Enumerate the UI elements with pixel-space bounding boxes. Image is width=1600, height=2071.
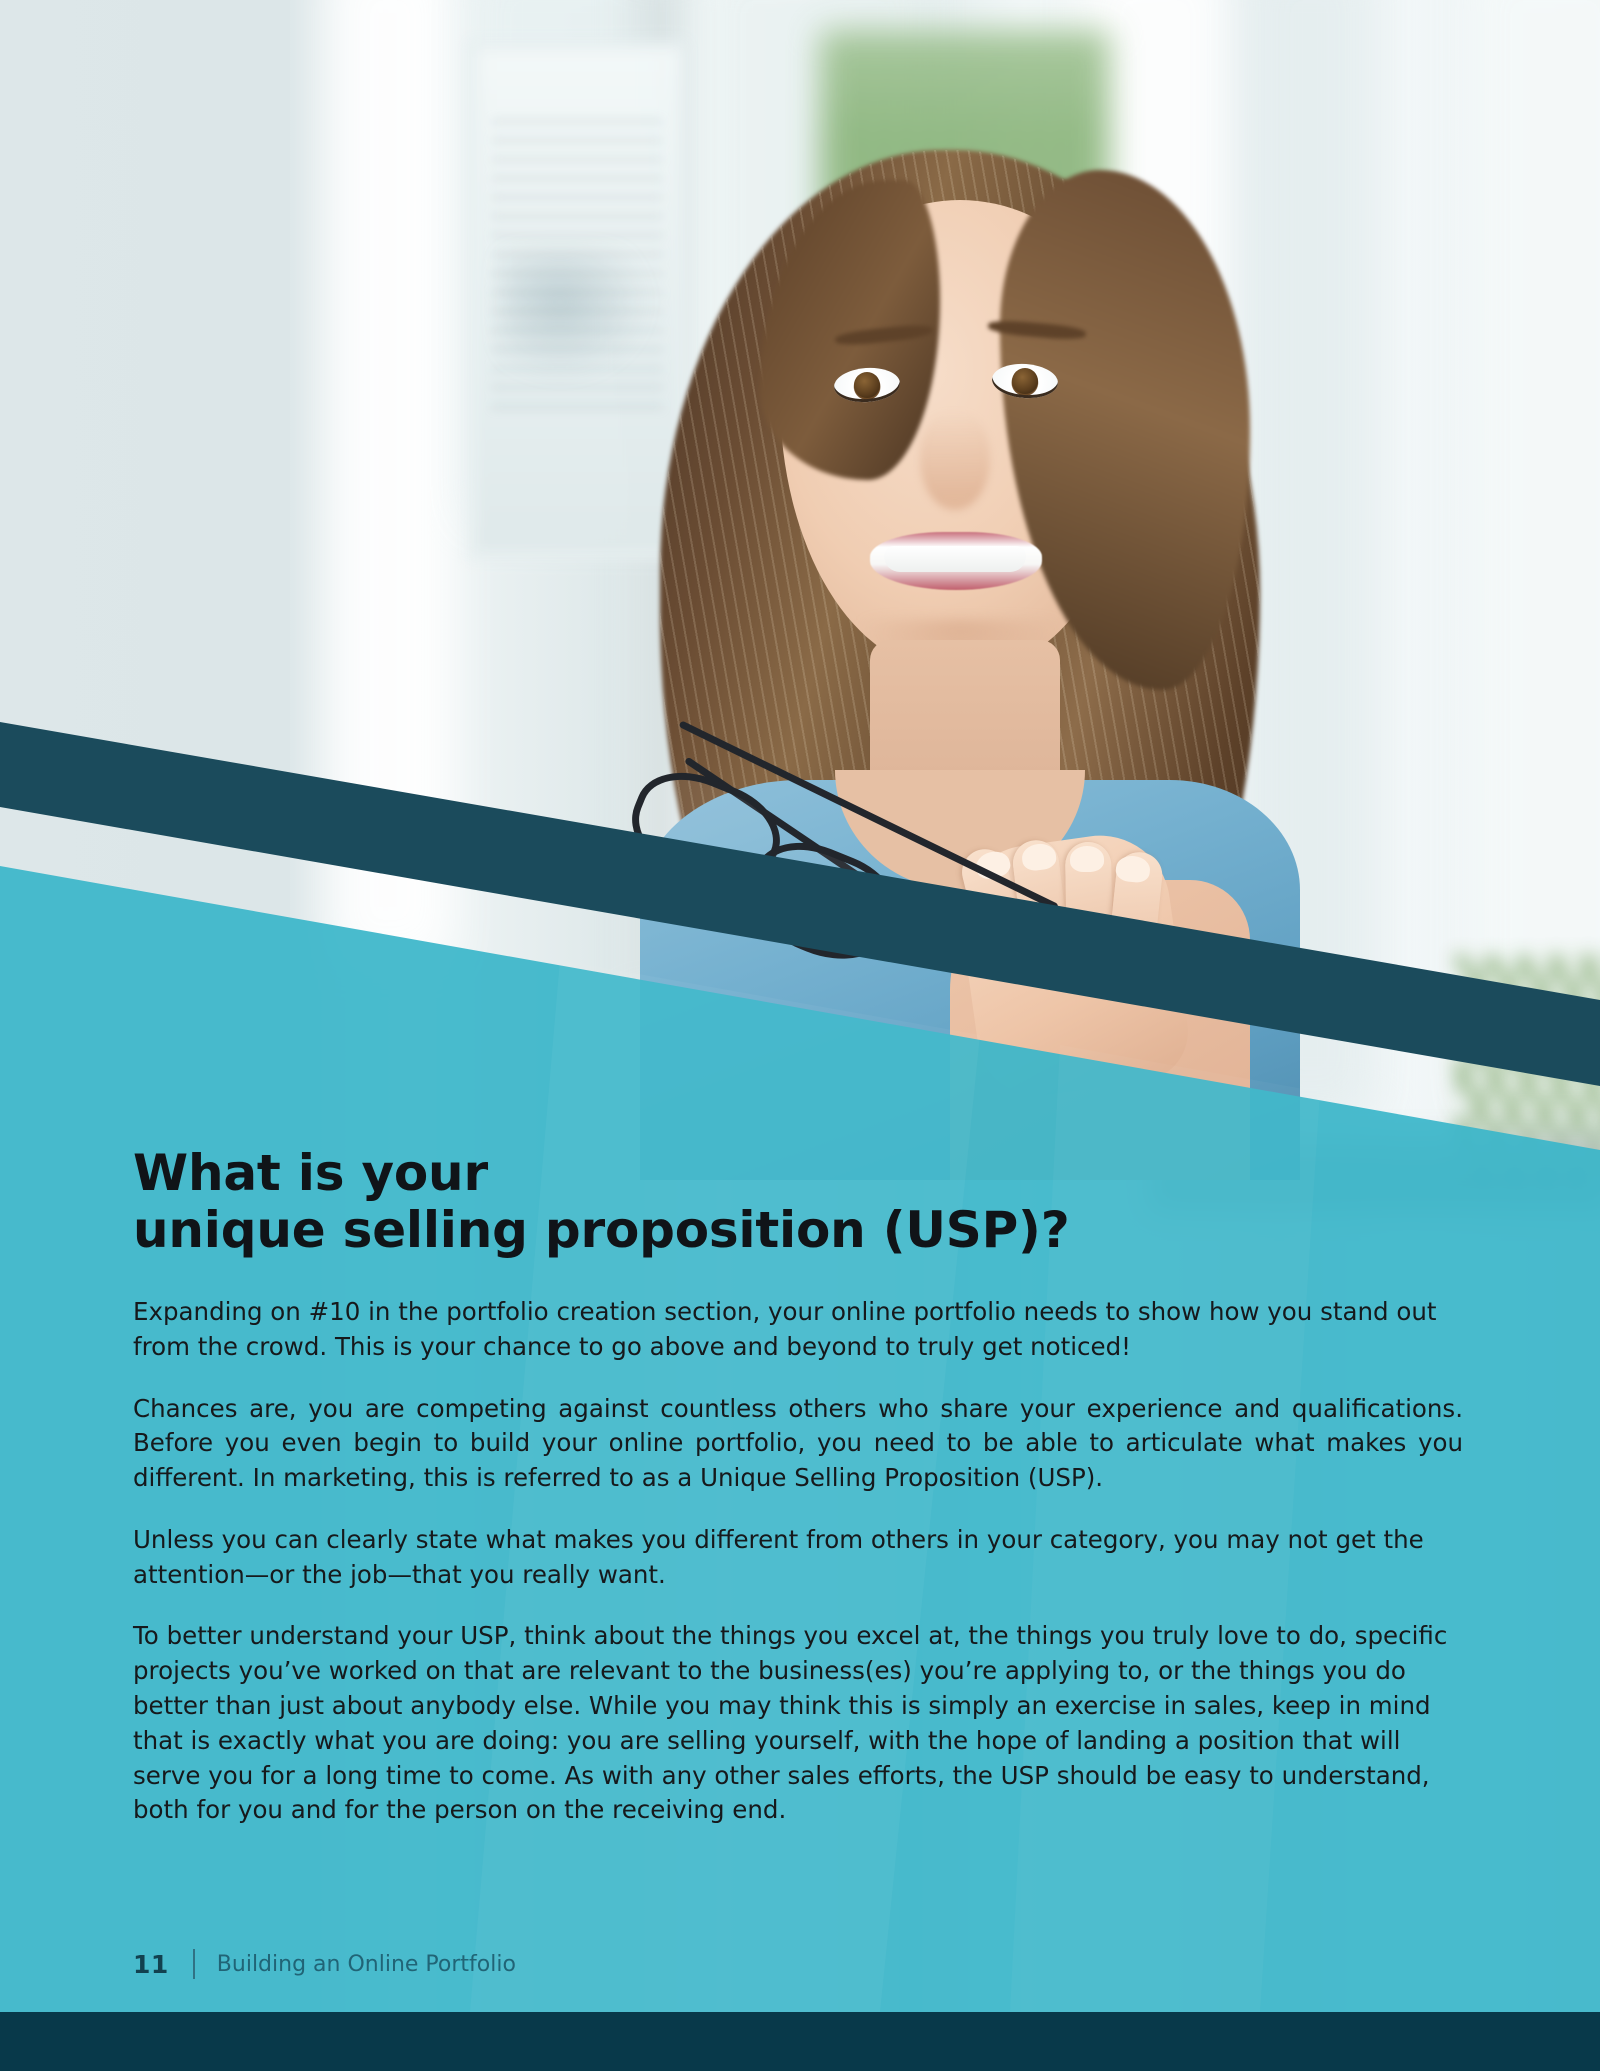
teeth (884, 546, 1026, 572)
person-portrait (620, 80, 1320, 1160)
page-number: 11 (133, 1950, 169, 1979)
body-paragraph-4: To better understand your USP, think abo… (133, 1619, 1463, 1828)
footer-section-title: Building an Online Portfolio (217, 1952, 516, 1977)
article-content: What is your unique selling proposition … (133, 1145, 1463, 1828)
footer-divider (193, 1949, 195, 1979)
window-panel (1470, 0, 1600, 1110)
body-paragraph-1: Expanding on #10 in the portfolio creati… (133, 1295, 1463, 1365)
nose (920, 410, 990, 510)
body-paragraph-3: Unless you can clearly state what makes … (133, 1523, 1463, 1593)
body-paragraph-2: Chances are, you are competing against c… (133, 1392, 1463, 1496)
document-page: What is your unique selling proposition … (0, 0, 1600, 2071)
page-footer: 11 Building an Online Portfolio (133, 1949, 516, 1979)
bottom-accent-bar (0, 2012, 1600, 2071)
page-title: What is your unique selling proposition … (133, 1145, 1463, 1259)
pupil-left (854, 372, 880, 398)
window-panel (330, 0, 450, 960)
fingernail (1070, 846, 1104, 873)
pupil-right (1012, 368, 1038, 394)
